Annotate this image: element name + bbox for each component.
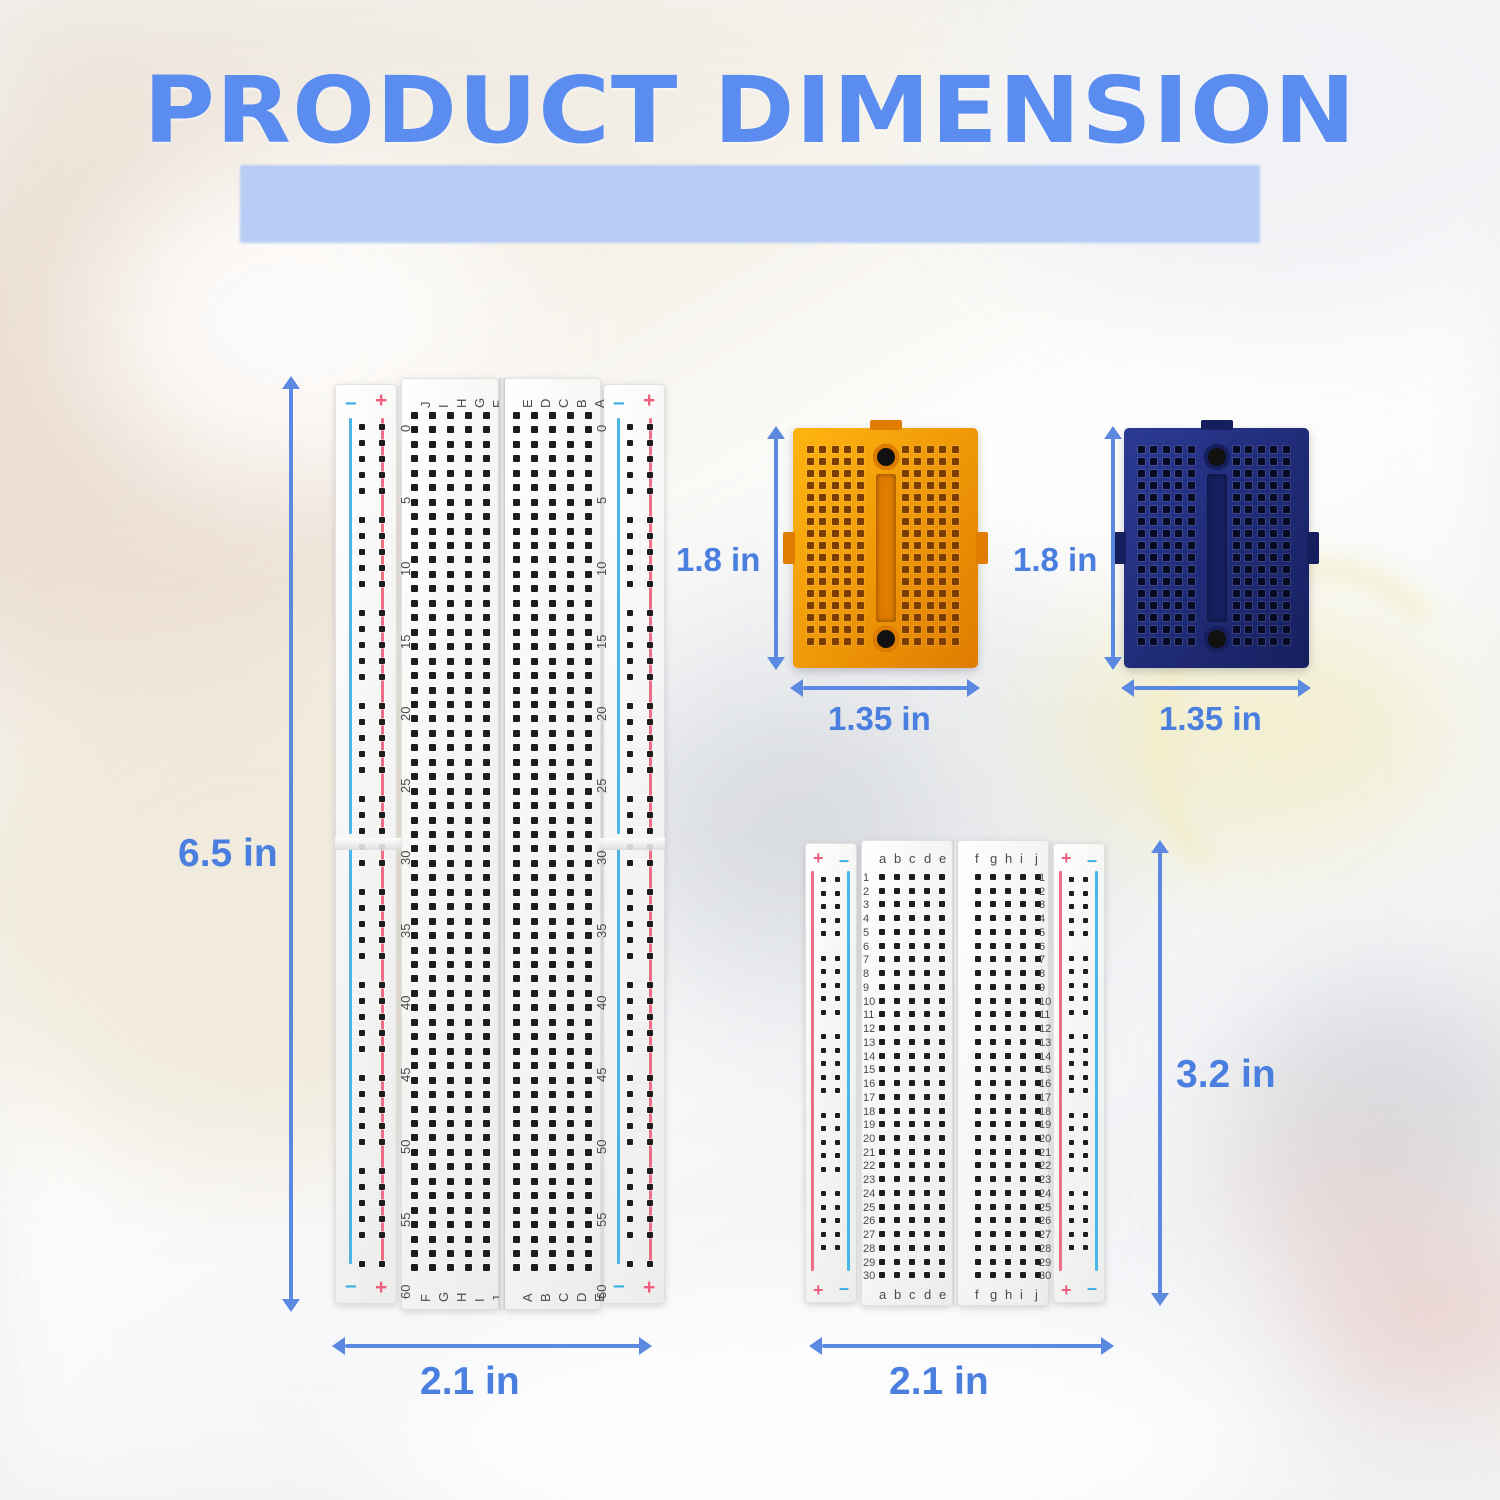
- breadboard-hole: [939, 470, 946, 477]
- terminal-hole: [483, 730, 490, 737]
- rail-hole: [821, 1245, 826, 1250]
- terminal-block-left[interactable]: JIHGFFGHIJ051015202530354045505560: [401, 378, 499, 1310]
- terminal-hole: [1020, 1204, 1026, 1210]
- terminal-hole: [429, 759, 436, 766]
- rail-hole: [627, 1232, 633, 1238]
- terminal-hole: [411, 672, 418, 679]
- breadboard-hole: [1150, 602, 1157, 609]
- terminal-hole: [429, 990, 436, 997]
- terminal-hole: [567, 441, 574, 448]
- terminal-hole: [447, 1163, 454, 1170]
- rail-hole: [627, 642, 633, 648]
- terminal-hole: [909, 1053, 915, 1059]
- breadboard-mini-yellow[interactable]: [793, 428, 978, 668]
- breadboard-hole: [1233, 506, 1240, 513]
- breadboard-hole: [1138, 614, 1145, 621]
- rail-hole: [379, 751, 385, 757]
- rail-hole: [647, 674, 653, 680]
- rail-hole: [647, 533, 653, 539]
- terminal-hole: [447, 802, 454, 809]
- terminal-hole: [879, 1025, 885, 1031]
- breadboard-hole: [1163, 482, 1170, 489]
- rail-hole: [821, 1075, 826, 1080]
- terminal-hole: [1020, 915, 1026, 921]
- rail-hole: [1083, 1010, 1088, 1015]
- rail-hole: [1083, 1113, 1088, 1118]
- terminal-hole: [531, 975, 538, 982]
- terminal-hole: [483, 629, 490, 636]
- terminal-hole: [531, 759, 538, 766]
- rail-hole: [647, 1139, 653, 1145]
- terminal-row-number: 22: [863, 1161, 875, 1172]
- terminal-hole: [909, 1149, 915, 1155]
- terminal-hole: [924, 1094, 930, 1100]
- terminal-hole: [990, 1053, 996, 1059]
- terminal-row-tick: 15: [399, 634, 412, 648]
- terminal-hole: [531, 1019, 538, 1026]
- breadboard-hole: [914, 494, 921, 501]
- terminal-row-number: 24: [863, 1189, 875, 1200]
- breadboard-hole: [939, 446, 946, 453]
- breadboard-hole: [1188, 530, 1195, 537]
- terminal-hole: [975, 984, 981, 990]
- terminal-hole: [549, 831, 556, 838]
- terminal-hole: [513, 773, 520, 780]
- terminal-hole: [990, 984, 996, 990]
- board-split-notch: [335, 838, 401, 850]
- terminal-hole: [447, 874, 454, 881]
- rail-hole: [379, 998, 385, 1004]
- terminal-hole: [585, 455, 592, 462]
- breadboard-hole: [1188, 638, 1195, 645]
- terminal-hole: [429, 903, 436, 910]
- breadboard-hole: [1233, 458, 1240, 465]
- terminal-row-number: 10: [1039, 997, 1051, 1008]
- rail-hole: [379, 581, 385, 587]
- breadboard-hole: [1188, 614, 1195, 621]
- breadboard-hole: [952, 446, 959, 453]
- terminal-hole: [567, 629, 574, 636]
- terminal-hole: [411, 1048, 418, 1055]
- terminal-hole: [411, 687, 418, 694]
- breadboard-hole: [902, 554, 909, 561]
- terminal-hole: [429, 744, 436, 751]
- rail-hole: [821, 1191, 826, 1196]
- rail-hole: [627, 533, 633, 539]
- terminal-hole: [411, 1236, 418, 1243]
- terminal-hole: [513, 658, 520, 665]
- breadboard-mini-blue[interactable]: [1124, 428, 1309, 668]
- breadboard-hole: [832, 554, 839, 561]
- terminal-hole: [513, 961, 520, 968]
- rail-hole: [1069, 918, 1074, 923]
- terminal-hole: [447, 658, 454, 665]
- breadboard-hole: [1150, 626, 1157, 633]
- rail-hole: [379, 424, 385, 430]
- rail-hole: [627, 1075, 633, 1081]
- terminal-hole: [990, 1094, 996, 1100]
- dimension-label-medium-width: 2.1 in: [889, 1360, 989, 1404]
- rail-hole: [379, 982, 385, 988]
- terminal-hole: [990, 1066, 996, 1072]
- breadboard-hole: [844, 578, 851, 585]
- terminal-hole: [447, 1250, 454, 1257]
- terminal-hole: [567, 1048, 574, 1055]
- terminal-hole: [894, 1066, 900, 1072]
- terminal-row-number: 5: [863, 928, 869, 939]
- terminal-hole: [549, 990, 556, 997]
- terminal-hole: [483, 874, 490, 881]
- terminal-hole: [1020, 943, 1026, 949]
- terminal-hole: [549, 860, 556, 867]
- breadboard-hole: [1150, 494, 1157, 501]
- arrow-left-icon: [809, 1337, 822, 1355]
- rail-hole: [379, 610, 385, 616]
- terminal-hole: [411, 817, 418, 824]
- rail-minus-symbol-bottom: –: [839, 1279, 849, 1297]
- breadboard-hole: [1233, 626, 1240, 633]
- terminal-block-left[interactable]: aabbccddee123456789101112131415161718192…: [861, 840, 953, 1306]
- breadboard-hole: [1258, 602, 1265, 609]
- terminal-hole: [531, 441, 538, 448]
- breadboard-hole: [952, 458, 959, 465]
- terminal-hole: [513, 947, 520, 954]
- terminal-hole: [429, 845, 436, 852]
- breadboard-hole: [1258, 482, 1265, 489]
- terminal-block-right[interactable]: ffgghhiijj123456789101112131415161718192…: [957, 840, 1049, 1306]
- terminal-hole: [975, 1053, 981, 1059]
- terminal-hole: [531, 687, 538, 694]
- terminal-hole: [549, 1264, 556, 1271]
- terminal-hole: [975, 1066, 981, 1072]
- terminal-hole: [939, 1259, 945, 1265]
- terminal-hole: [909, 1272, 915, 1278]
- rail-hole: [835, 1140, 840, 1145]
- terminal-hole: [483, 643, 490, 650]
- terminal-hole: [975, 1190, 981, 1196]
- rail-hole: [359, 1123, 365, 1129]
- arrow-right-icon: [1101, 1337, 1114, 1355]
- terminal-hole: [513, 499, 520, 506]
- rail-hole: [647, 472, 653, 478]
- terminal-hole: [447, 1178, 454, 1185]
- breadboard-hole: [1258, 626, 1265, 633]
- rail-hole: [359, 674, 365, 680]
- terminal-column-label: B: [575, 399, 588, 408]
- terminal-hole: [990, 874, 996, 880]
- terminal-hole: [483, 470, 490, 477]
- rail-hole: [359, 424, 365, 430]
- terminal-hole: [909, 984, 915, 990]
- terminal-hole: [585, 932, 592, 939]
- breadboard-hole: [1270, 578, 1277, 585]
- terminal-hole: [513, 1149, 520, 1156]
- dimension-label-mini-blue-height: 1.8 in: [1013, 541, 1097, 579]
- terminal-hole: [585, 1106, 592, 1113]
- terminal-hole: [549, 701, 556, 708]
- terminal-row-number: 23: [863, 1175, 875, 1186]
- rail-hole: [627, 440, 633, 446]
- terminal-hole: [429, 499, 436, 506]
- terminal-hole: [447, 932, 454, 939]
- terminal-hole: [975, 888, 981, 894]
- terminal-hole: [567, 571, 574, 578]
- rail-hole: [359, 658, 365, 664]
- terminal-hole: [483, 802, 490, 809]
- terminal-column-label: a: [879, 852, 886, 865]
- breadboard-hole: [1258, 638, 1265, 645]
- terminal-hole: [513, 484, 520, 491]
- arrow-left-icon: [332, 1337, 345, 1355]
- terminal-hole: [531, 585, 538, 592]
- terminal-hole: [894, 1080, 900, 1086]
- breadboard-hole: [939, 506, 946, 513]
- terminal-hole: [894, 1217, 900, 1223]
- terminal-row-number: 9: [1039, 983, 1045, 994]
- breadboard-hole: [832, 626, 839, 633]
- rail-hole: [1083, 1191, 1088, 1196]
- terminal-hole: [975, 1162, 981, 1168]
- rail-hole: [1083, 1232, 1088, 1237]
- rail-hole: [379, 456, 385, 462]
- terminal-row-number: 8: [863, 969, 869, 980]
- breadboard-hole: [1270, 542, 1277, 549]
- breadboard-hole: [1270, 626, 1277, 633]
- rail-hole: [379, 953, 385, 959]
- rail-hole: [359, 1216, 365, 1222]
- breadboard-hole: [1270, 638, 1277, 645]
- rail-hole: [647, 889, 653, 895]
- terminal-hole: [990, 1108, 996, 1114]
- arrow-right-icon: [1298, 679, 1311, 697]
- terminal-hole: [429, 831, 436, 838]
- terminal-hole: [567, 412, 574, 419]
- terminal-hole: [894, 1259, 900, 1265]
- breadboard-hole: [807, 458, 814, 465]
- terminal-hole: [924, 1066, 930, 1072]
- terminal-hole: [585, 903, 592, 910]
- breadboard-hole: [1175, 482, 1182, 489]
- rail-minus-symbol-top: –: [613, 392, 625, 413]
- terminal-hole: [975, 901, 981, 907]
- terminal-hole: [909, 1121, 915, 1127]
- breadboard-hole: [1138, 626, 1145, 633]
- terminal-row-number: 30: [863, 1271, 875, 1282]
- breadboard-hole: [902, 518, 909, 525]
- terminal-hole: [924, 970, 930, 976]
- breadboard-hole: [927, 614, 934, 621]
- terminal-hole: [465, 1192, 472, 1199]
- breadboard-hole: [844, 566, 851, 573]
- rail-hole: [1069, 1034, 1074, 1039]
- terminal-hole: [549, 556, 556, 563]
- terminal-hole: [447, 412, 454, 419]
- terminal-hole: [567, 1004, 574, 1011]
- terminal-hole: [465, 528, 472, 535]
- breadboard-hole: [1245, 482, 1252, 489]
- terminal-hole: [531, 614, 538, 621]
- breadboard-hole: [939, 482, 946, 489]
- power-rail-left[interactable]: +–+–: [805, 843, 857, 1303]
- breadboard-hole: [819, 494, 826, 501]
- terminal-hole: [567, 1163, 574, 1170]
- rail-hole: [627, 921, 633, 927]
- breadboard-hole: [1163, 494, 1170, 501]
- terminal-hole: [513, 1106, 520, 1113]
- breadboard-hole: [914, 566, 921, 573]
- terminal-hole: [879, 1094, 885, 1100]
- breadboard-hole: [1270, 470, 1277, 477]
- terminal-block-right[interactable]: EDCBAABCDE051015202530354045505560: [503, 378, 601, 1310]
- rail-plus-symbol-top: +: [375, 390, 387, 411]
- terminal-hole: [549, 932, 556, 939]
- terminal-hole: [483, 1221, 490, 1228]
- terminal-hole: [411, 470, 418, 477]
- rail-hole: [359, 1232, 365, 1238]
- rail-hole: [821, 969, 826, 974]
- terminal-hole: [411, 513, 418, 520]
- rail-hole: [1083, 918, 1088, 923]
- terminal-hole: [924, 1176, 930, 1182]
- rail-hole: [835, 1113, 840, 1118]
- terminal-hole: [429, 1062, 436, 1069]
- terminal-hole: [531, 1221, 538, 1228]
- breadboard-830[interactable]: –+–+–+–+JIHGFFGHIJ0510152025303540455055…: [335, 378, 665, 1310]
- terminal-hole: [483, 1250, 490, 1257]
- terminal-hole: [567, 556, 574, 563]
- breadboard-hole: [1245, 518, 1252, 525]
- rail-hole: [359, 982, 365, 988]
- breadboard-hole: [952, 554, 959, 561]
- terminal-hole: [447, 571, 454, 578]
- breadboard-hole: [844, 554, 851, 561]
- rail-hole: [359, 1091, 365, 1097]
- terminal-hole: [585, 788, 592, 795]
- terminal-hole: [411, 542, 418, 549]
- breadboard-hole: [857, 482, 864, 489]
- terminal-hole: [549, 528, 556, 535]
- breadboard-hole: [1175, 554, 1182, 561]
- breadboard-hole: [1245, 614, 1252, 621]
- terminal-hole: [411, 1019, 418, 1026]
- terminal-column-label: F: [419, 1294, 432, 1302]
- rail-hole: [359, 440, 365, 446]
- terminal-hole: [975, 1217, 981, 1223]
- terminal-hole: [483, 441, 490, 448]
- terminal-hole: [465, 455, 472, 462]
- terminal-hole: [429, 889, 436, 896]
- terminal-hole: [585, 528, 592, 535]
- terminal-hole: [429, 788, 436, 795]
- terminal-hole: [585, 614, 592, 621]
- breadboard-hole: [1270, 566, 1277, 573]
- breadboard-hole: [819, 482, 826, 489]
- rail-hole: [379, 860, 385, 866]
- terminal-row-tick: 55: [595, 1212, 608, 1226]
- breadboard-hole: [914, 578, 921, 585]
- breadboard-hole: [1270, 518, 1277, 525]
- rail-hole: [1069, 877, 1074, 882]
- breadboard-hole: [1283, 542, 1290, 549]
- breadboard-hole: [1188, 446, 1195, 453]
- breadboard-hole: [1163, 530, 1170, 537]
- terminal-hole: [483, 556, 490, 563]
- breadboard-hole: [902, 470, 909, 477]
- terminal-hole: [429, 975, 436, 982]
- rail-hole: [821, 931, 826, 936]
- terminal-hole: [465, 1134, 472, 1141]
- breadboard-hole: [1138, 470, 1145, 477]
- terminal-hole: [513, 687, 520, 694]
- power-rail-right[interactable]: +–+–: [1053, 843, 1105, 1303]
- terminal-row-tick: 25: [595, 779, 608, 793]
- terminal-hole: [483, 687, 490, 694]
- terminal-hole: [483, 600, 490, 607]
- breadboard-400[interactable]: +–+–aabbccddee12345678910111213141516171…: [805, 840, 1105, 1306]
- rail-hole: [835, 1010, 840, 1015]
- terminal-hole: [585, 918, 592, 925]
- breadboard-hole: [1188, 458, 1195, 465]
- terminal-hole: [990, 1121, 996, 1127]
- breadboard-hole: [844, 446, 851, 453]
- breadboard-hole: [1150, 554, 1157, 561]
- terminal-hole: [894, 970, 900, 976]
- terminal-hole: [531, 860, 538, 867]
- terminal-hole: [909, 1080, 915, 1086]
- terminal-hole: [549, 470, 556, 477]
- terminal-hole: [411, 1163, 418, 1170]
- breadboard-hole: [952, 470, 959, 477]
- terminal-hole: [1020, 1011, 1026, 1017]
- terminal-hole: [531, 1091, 538, 1098]
- terminal-hole: [1020, 1162, 1026, 1168]
- terminal-hole: [465, 860, 472, 867]
- breadboard-hole: [819, 602, 826, 609]
- terminal-hole: [924, 929, 930, 935]
- rail-minus-symbol-bottom: –: [1087, 1279, 1097, 1297]
- terminal-hole: [429, 715, 436, 722]
- terminal-hole: [1020, 1108, 1026, 1114]
- breadboard-hole: [1270, 458, 1277, 465]
- breadboard-hole: [1188, 626, 1195, 633]
- terminal-hole: [1005, 1066, 1011, 1072]
- terminal-hole: [465, 831, 472, 838]
- breadboard-hole: [844, 542, 851, 549]
- breadboard-hole: [857, 626, 864, 633]
- terminal-hole: [909, 1190, 915, 1196]
- terminal-hole: [990, 1217, 996, 1223]
- terminal-hole: [879, 1176, 885, 1182]
- rail-hole: [627, 735, 633, 741]
- terminal-hole: [1005, 1039, 1011, 1045]
- terminal-hole: [924, 901, 930, 907]
- terminal-hole: [429, 1091, 436, 1098]
- terminal-hole: [513, 701, 520, 708]
- terminal-hole: [567, 990, 574, 997]
- terminal-hole: [447, 1077, 454, 1084]
- rail-hole: [835, 1034, 840, 1039]
- rail-hole: [627, 674, 633, 680]
- terminal-hole: [447, 484, 454, 491]
- breadboard-hole: [1233, 530, 1240, 537]
- terminal-hole: [975, 1025, 981, 1031]
- terminal-hole: [465, 918, 472, 925]
- terminal-hole: [585, 1091, 592, 1098]
- rail-plus-symbol-bottom: +: [813, 1281, 824, 1299]
- terminal-column-label: d: [924, 852, 931, 865]
- terminal-hole: [549, 1048, 556, 1055]
- terminal-hole: [483, 1048, 490, 1055]
